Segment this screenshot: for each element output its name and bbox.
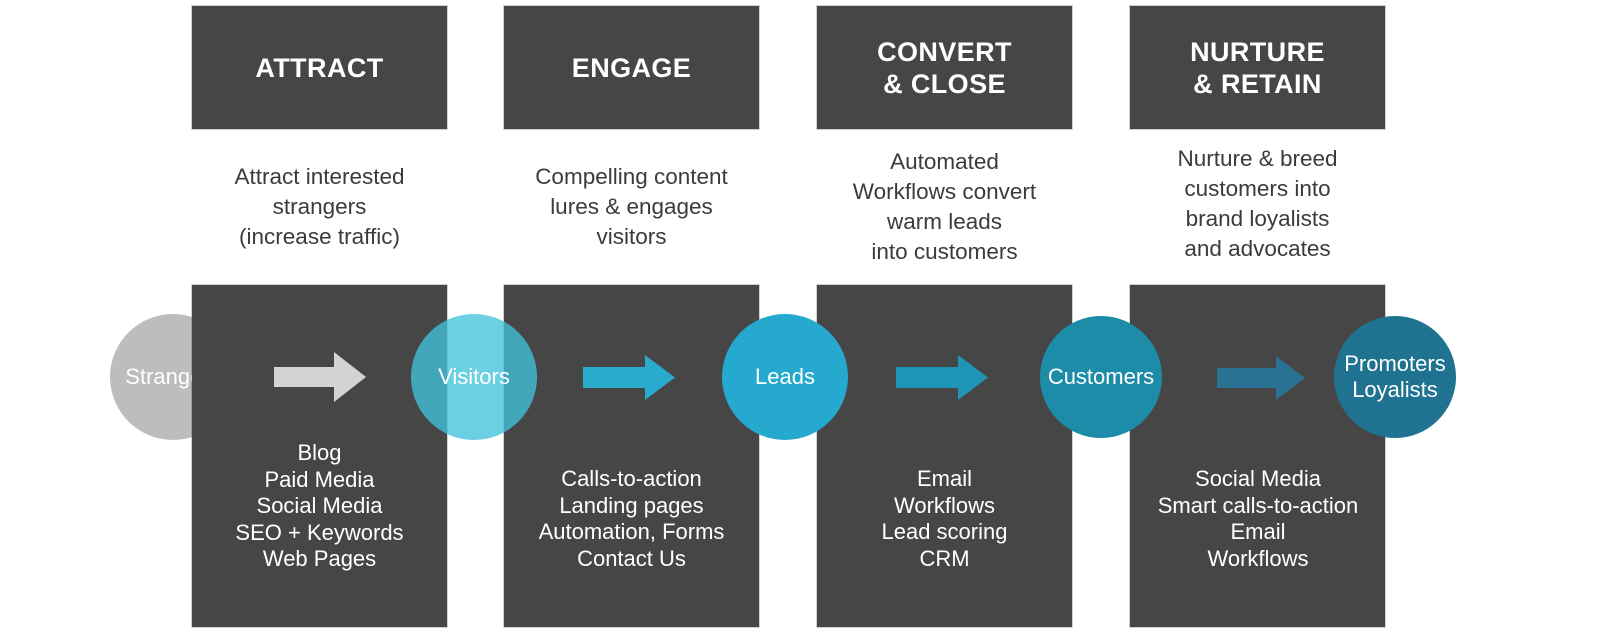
stage-title-attract: ATTRACT <box>192 6 447 129</box>
stage-description-engage: Compelling content lures & engages visit… <box>484 162 779 252</box>
stage-description-convert-close: Automated Workflows convert warm leads i… <box>797 147 1092 267</box>
stage-tactics-attract: Blog Paid Media Social Media SEO + Keywo… <box>192 440 447 573</box>
stage-description-attract: Attract interested strangers (increase t… <box>172 162 467 252</box>
stage-title-nurture-retain: NURTURE & RETAIN <box>1130 6 1385 129</box>
stage-title-convert-close: CONVERT & CLOSE <box>817 6 1072 129</box>
stage-tactics-engage: Calls-to-action Landing pages Automation… <box>494 466 769 572</box>
stage-title-engage: ENGAGE <box>504 6 759 129</box>
text-layer: ATTRACT ENGAGE CONVERT & CLOSE NURTURE &… <box>0 0 1600 637</box>
stage-description-nurture-retain: Nurture & breed customers into brand loy… <box>1110 144 1405 264</box>
stage-tactics-convert-close: Email Workflows Lead scoring CRM <box>817 466 1072 572</box>
stage-tactics-nurture-retain: Social Media Smart calls-to-action Email… <box>1122 466 1394 572</box>
inbound-marketing-funnel-diagram: Strangers Visit <box>0 0 1600 637</box>
